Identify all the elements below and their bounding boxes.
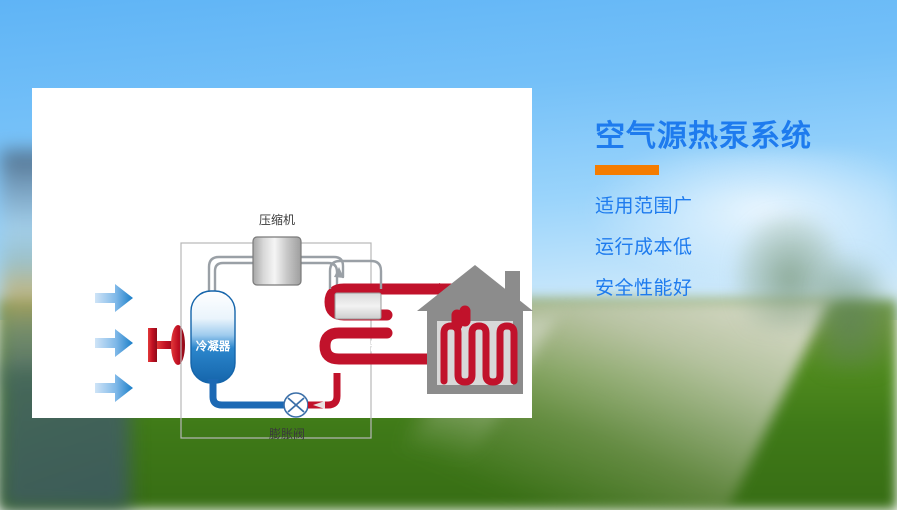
heat-pump-diagram: 压缩机 冷凝器 膨胀阀 [87,193,547,443]
list-item: 安全性能好 [595,279,895,298]
list-item: 运行成本低 [595,238,895,257]
house-coil-connectors [457,311,465,325]
condenser-label: 冷凝器 [196,339,231,353]
slide-canvas: 压缩机 冷凝器 膨胀阀 [0,0,897,510]
fan-icon [148,325,185,365]
air-intake-arrows [95,284,133,402]
liquid-line-cold [213,383,285,405]
feature-list: 适用范围广 运行成本低 安全性能好 [595,197,895,298]
list-item: 适用范围广 [595,197,895,216]
cold-flow-arrow [207,379,219,390]
expansion-valve [284,393,308,417]
evaporator-core [335,293,381,319]
compressor-label: 压缩机 [259,212,295,227]
page-title: 空气源热泵系统 [595,120,895,153]
compressor-unit [253,237,301,285]
diagram-card: 压缩机 冷凝器 膨胀阀 [32,88,532,418]
liquid-line-hot [308,373,337,405]
title-underline-rule [595,165,659,175]
expansion-valve-label: 膨胀阀 [269,427,305,441]
text-panel: 空气源热泵系统 适用范围广 运行成本低 安全性能好 [595,120,895,320]
chimney [505,271,520,303]
evaporator-label: 蒸发器 [342,339,377,353]
condenser-unit [191,291,235,383]
